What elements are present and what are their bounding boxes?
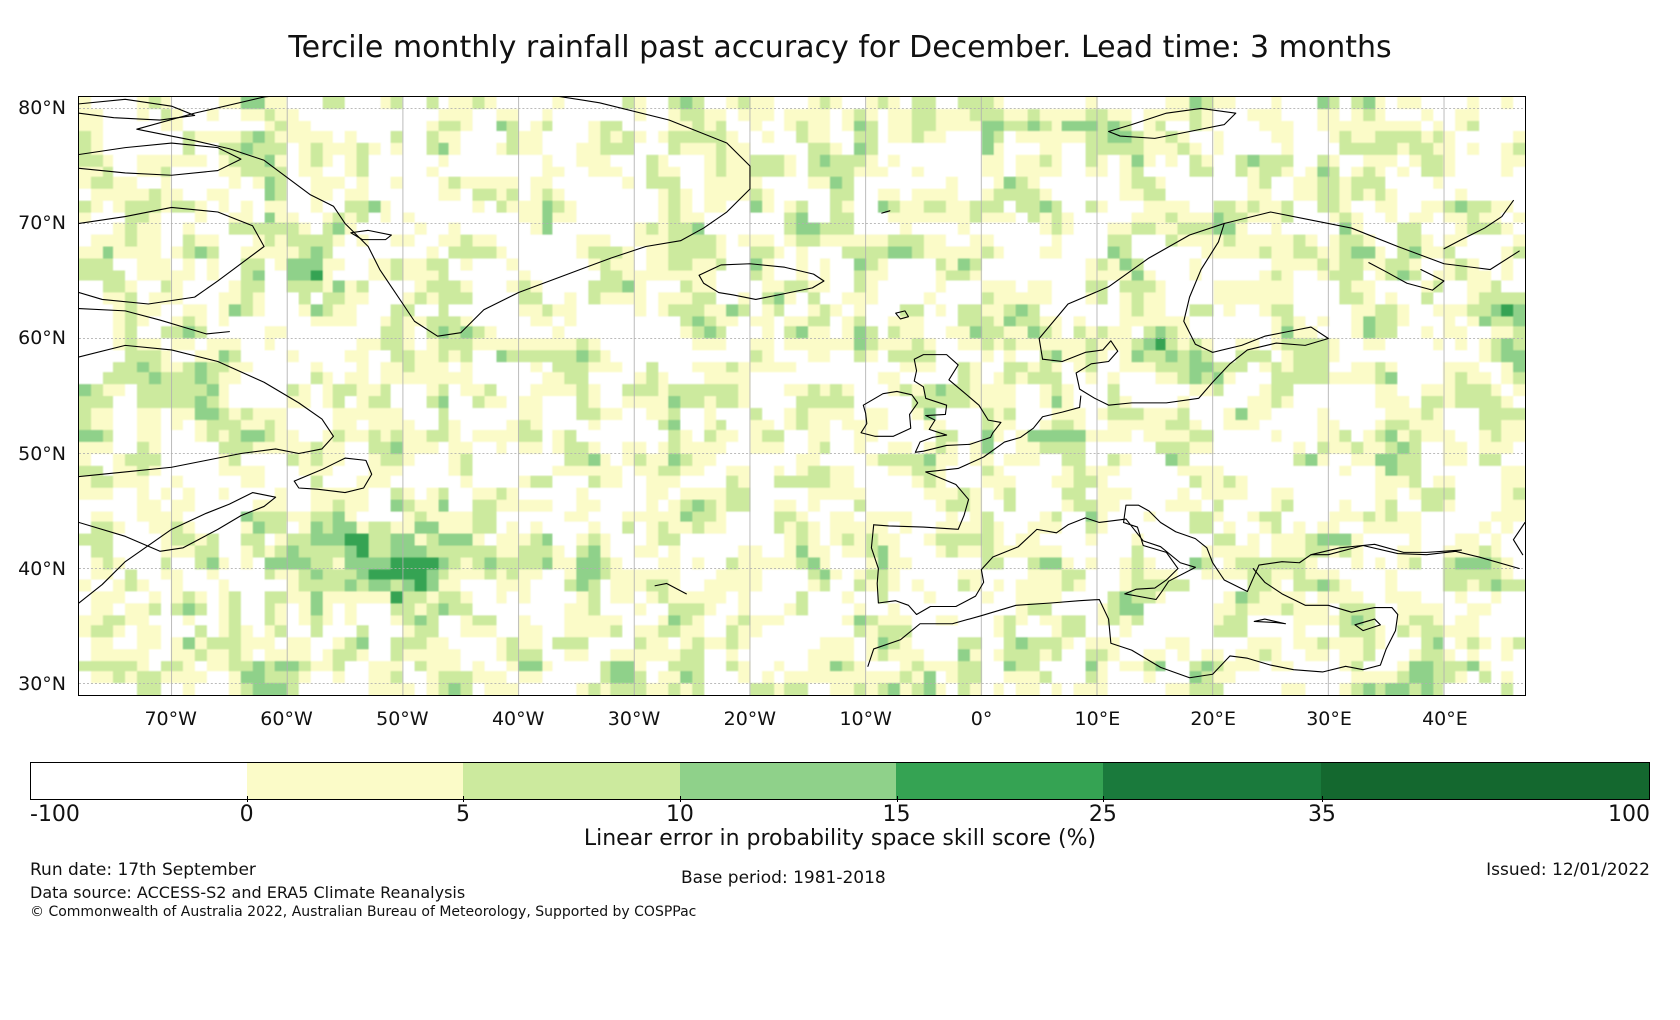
coastlines [79, 97, 1525, 695]
colorbar[interactable] [30, 762, 1650, 800]
colorbar-tick-label: 10 [666, 802, 694, 827]
latitude-tick-label: 80°N [0, 97, 66, 119]
longitude-tick-label: 50°W [376, 708, 428, 730]
longitude-tick-label: 10°E [1075, 708, 1121, 730]
colorbar-segment [1103, 763, 1322, 799]
colorbar-tick-label: 0 [240, 802, 254, 827]
footer-base-period: Base period: 1981-2018 [681, 868, 886, 888]
latitude-tick-label: 40°N [0, 558, 66, 580]
colorbar-tick-label: 25 [1089, 802, 1117, 827]
footer-run-date: Run date: 17th September [30, 860, 256, 880]
map-container[interactable] [78, 96, 1526, 696]
longitude-tick-label: 0° [971, 708, 993, 730]
longitude-tick-label: 20°W [724, 708, 776, 730]
colorbar-segment [896, 763, 1102, 799]
colorbar-segment [463, 763, 680, 799]
longitude-tick-label: 30°E [1306, 708, 1352, 730]
colorbar-tick-mark [1322, 796, 1323, 802]
colorbar-tick-mark [897, 796, 898, 802]
colorbar-tick-label: 5 [456, 802, 470, 827]
page-title: Tercile monthly rainfall past accuracy f… [0, 30, 1680, 65]
latitude-tick-label: 50°N [0, 443, 66, 465]
longitude-tick-label: 40°W [492, 708, 544, 730]
longitude-tick-label: 10°W [839, 708, 891, 730]
longitude-tick-label: 70°W [144, 708, 196, 730]
colorbar-segment [31, 763, 247, 799]
map-frame[interactable] [78, 96, 1526, 696]
colorbar-label: Linear error in probability space skill … [0, 826, 1680, 851]
colorbar-segment [247, 763, 463, 799]
colorbar-tick-mark [463, 796, 464, 802]
colorbar-tick-label: 100 [1608, 802, 1650, 827]
longitude-tick-label: 20°E [1190, 708, 1236, 730]
colorbar-tick-label: -100 [30, 802, 80, 827]
longitude-tick-label: 60°W [260, 708, 312, 730]
colorbar-tick-mark [1103, 796, 1104, 802]
colorbar-tick-label: 15 [883, 802, 911, 827]
colorbar-tick-mark [247, 796, 248, 802]
footer-issued-date: Issued: 12/01/2022 [1486, 860, 1650, 880]
latitude-tick-label: 70°N [0, 212, 66, 234]
latitude-tick-label: 30°N [0, 673, 66, 695]
footer-copyright: © Commonwealth of Australia 2022, Austra… [30, 904, 696, 920]
colorbar-tick-label: 35 [1308, 802, 1336, 827]
latitude-tick-label: 60°N [0, 327, 66, 349]
footer-data-source: Data source: ACCESS-S2 and ERA5 Climate … [30, 883, 465, 902]
forecast-map-page: Tercile monthly rainfall past accuracy f… [0, 0, 1680, 1020]
colorbar-segment [1321, 763, 1649, 799]
colorbar-segment [680, 763, 896, 799]
longitude-tick-label: 40°E [1422, 708, 1468, 730]
longitude-tick-label: 30°W [608, 708, 660, 730]
colorbar-tick-mark [680, 796, 681, 802]
